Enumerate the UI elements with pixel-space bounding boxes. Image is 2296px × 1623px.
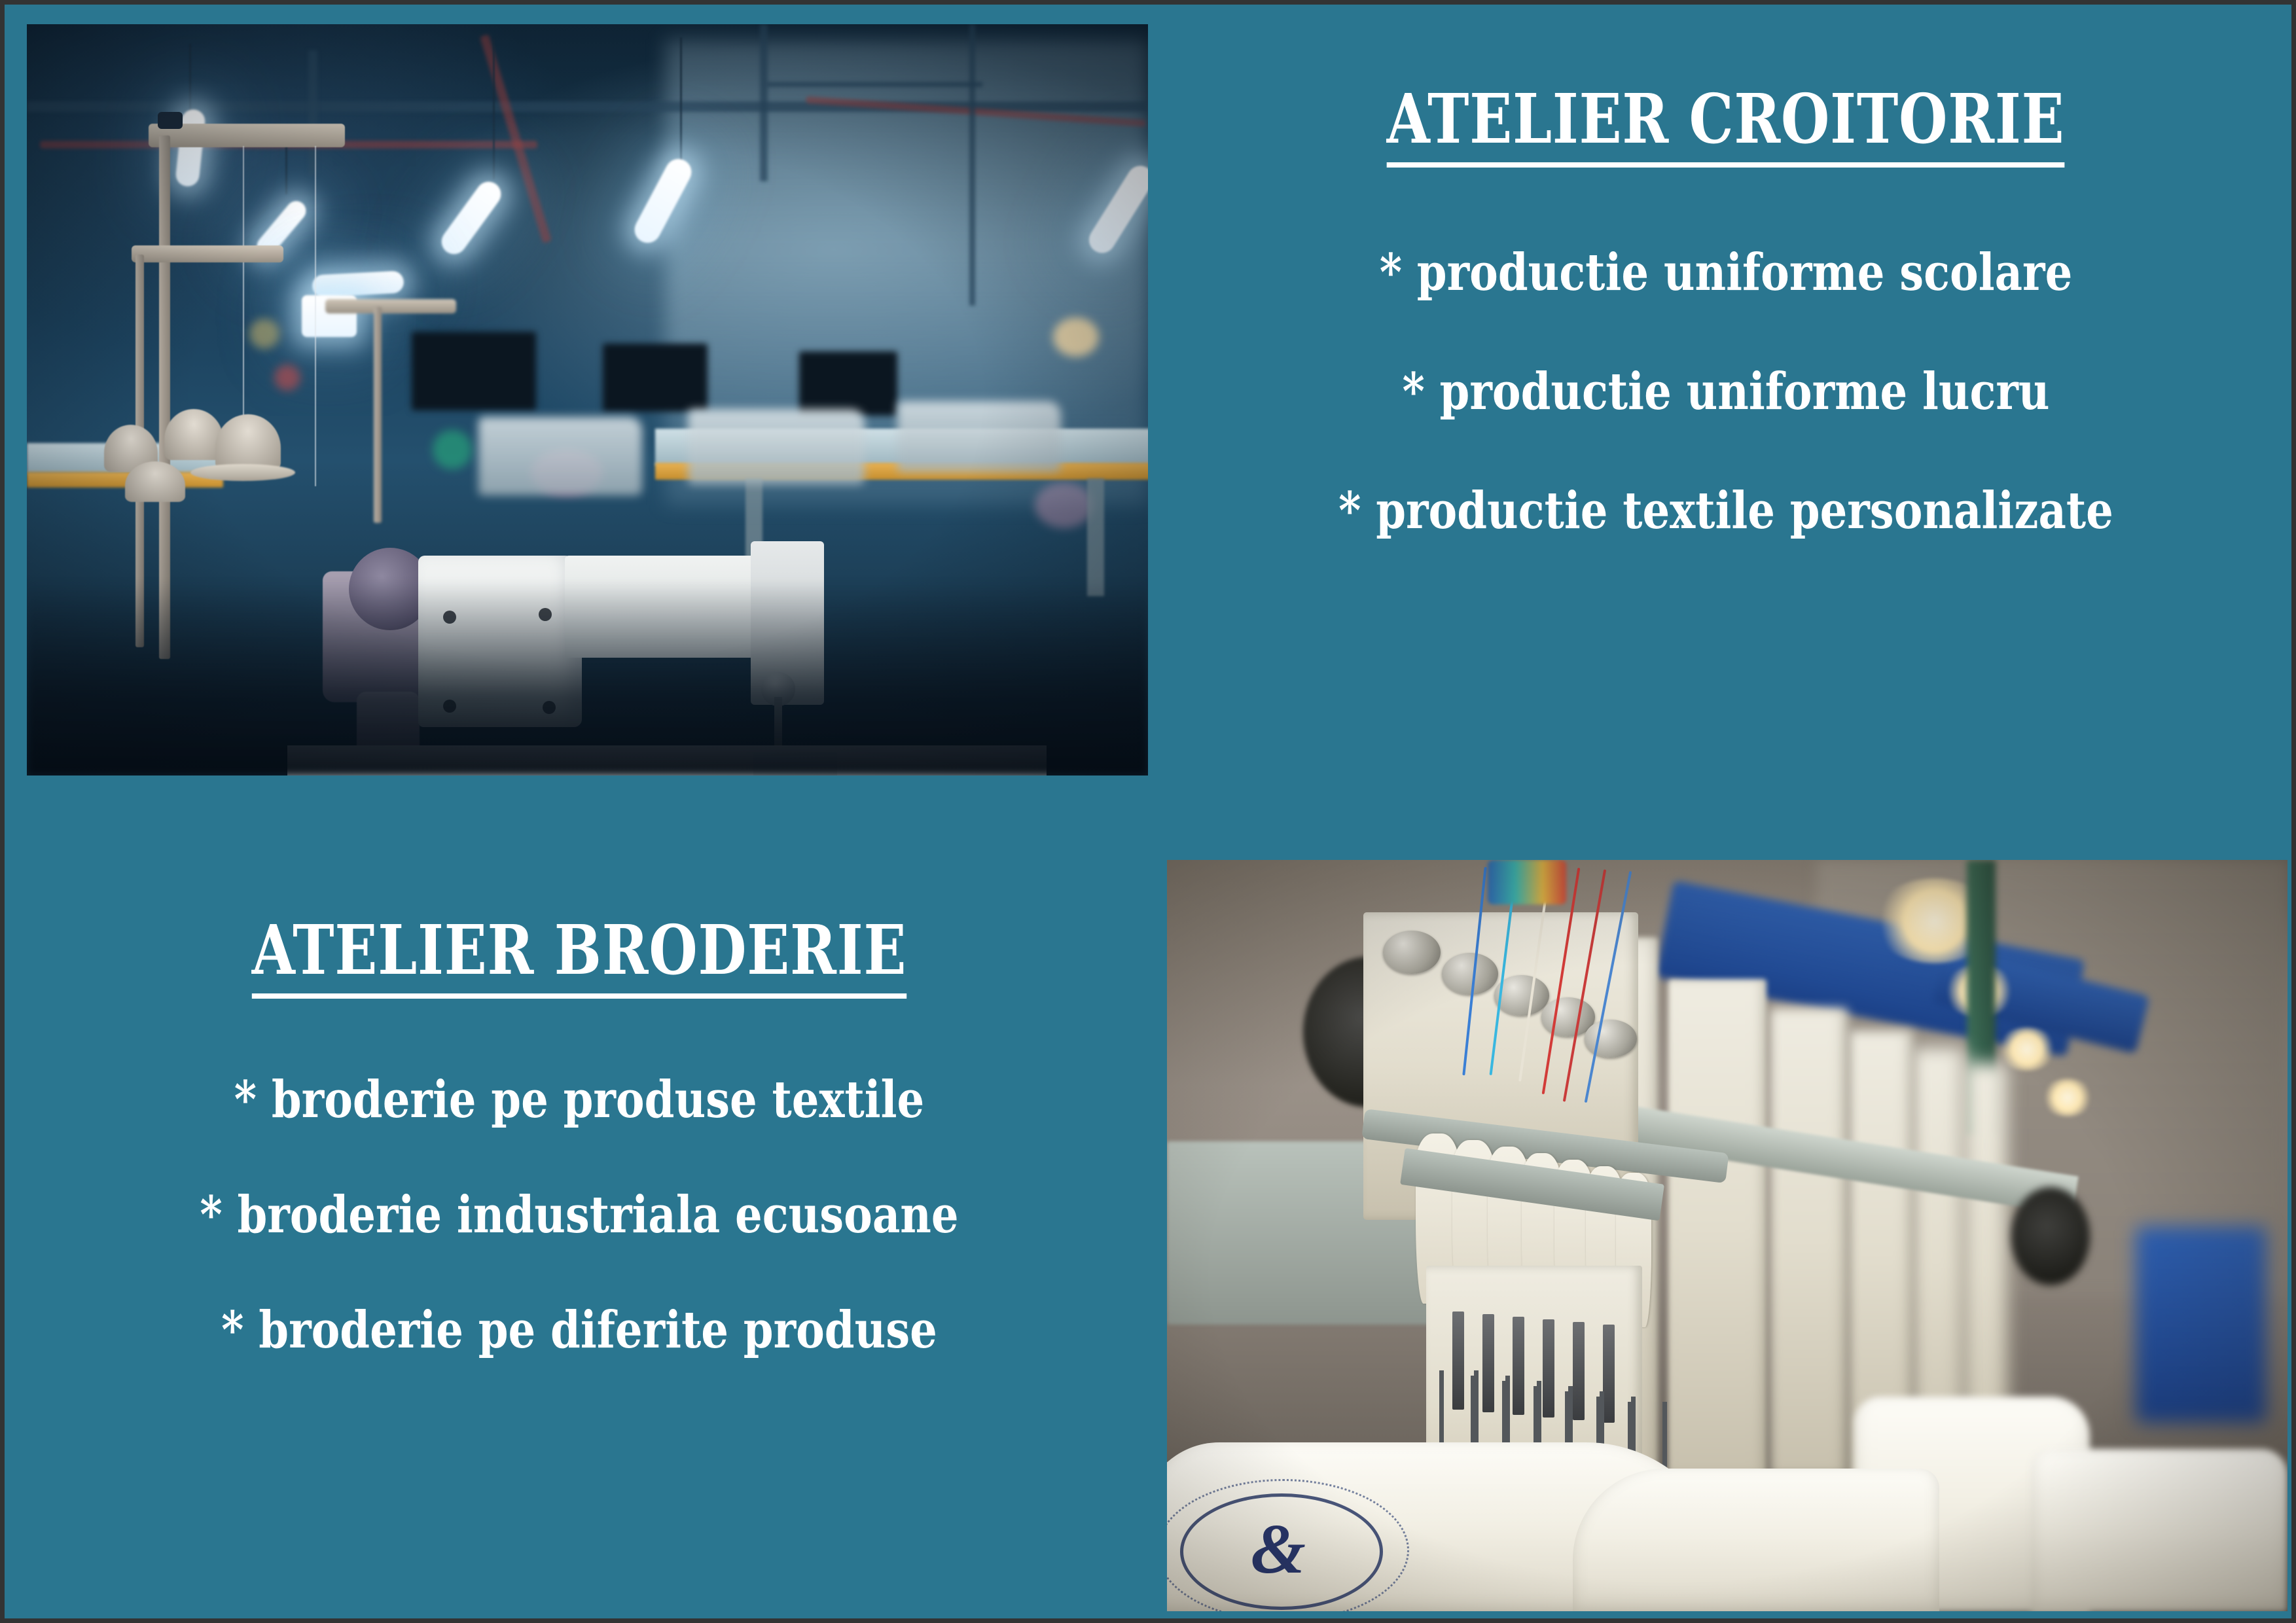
page-title-croitorie: ATELIER CROITORIE [1387,83,2065,168]
broderie-bullet-list: * broderie pe produse textile * broderie… [36,1072,1122,1358]
photo-vignette [1167,860,2287,1611]
broderie-text-block: ATELIER BRODERIE * broderie pe produse t… [36,914,1122,1418]
croitorie-text-block: ATELIER CROITORIE * productie uniforme s… [1183,83,2269,602]
list-item: * productie uniforme lucru [1270,364,2182,420]
list-item: * broderie industriala ecusoane [123,1187,1035,1243]
list-item: * broderie pe produse textile [123,1072,1035,1128]
slide-canvas: & ATELIER CROITORIE * productie uniforme… [0,0,2296,1623]
page-title-broderie: ATELIER BRODERIE [252,914,906,999]
photo-vignette [27,24,1148,776]
list-item: * productie textile personalizate [1270,483,2182,539]
croitorie-bullet-list: * productie uniforme scolare * productie… [1183,245,2269,539]
list-item: * productie uniforme scolare [1270,245,2182,301]
sewing-workshop-photo [27,24,1148,776]
list-item: * broderie pe diferite produse [123,1302,1035,1359]
embroidery-machine-photo: & [1167,860,2287,1611]
croitorie-title-wrap: ATELIER CROITORIE [1183,83,2269,168]
broderie-title-wrap: ATELIER BRODERIE [36,914,1122,999]
